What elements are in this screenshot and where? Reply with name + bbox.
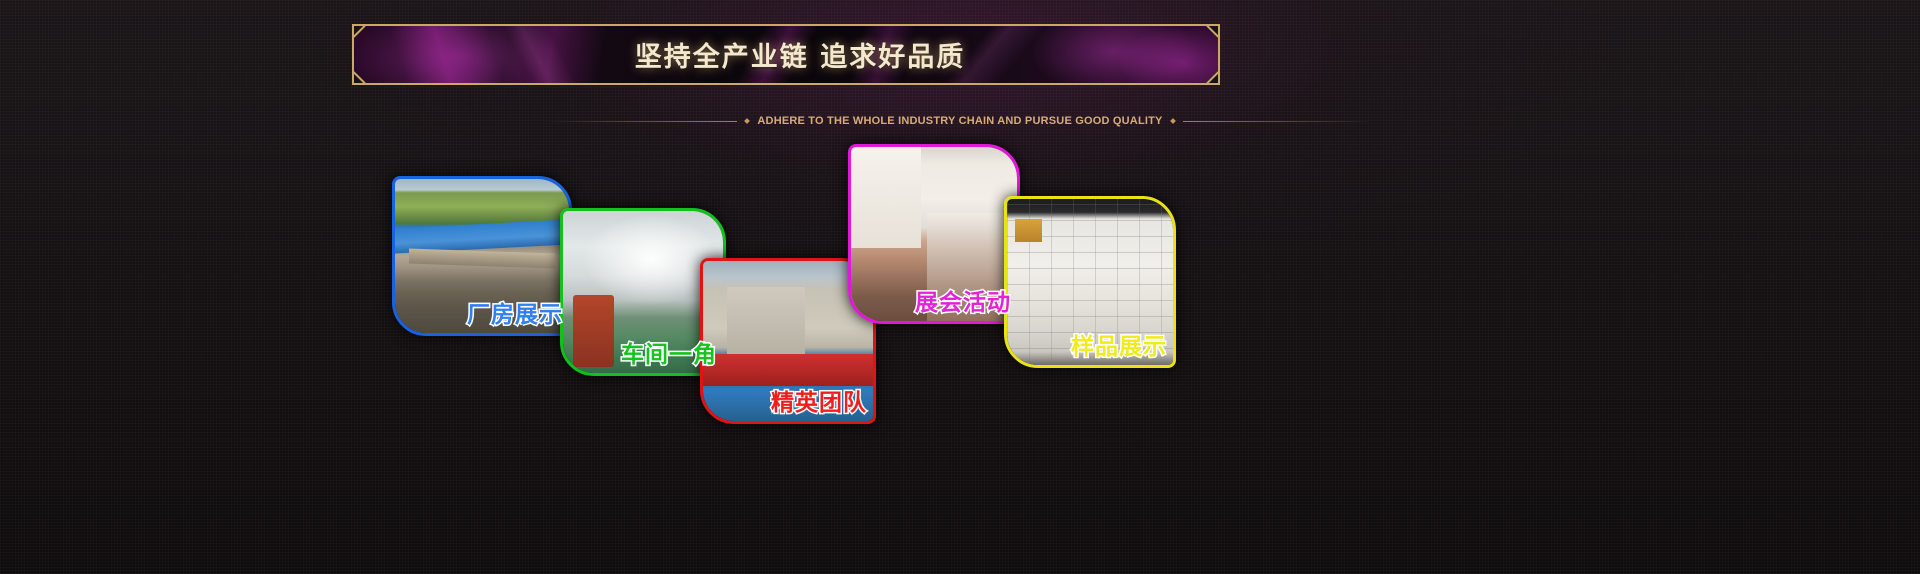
subtitle-rule-left: [545, 121, 737, 122]
page-root: 坚持全产业链 追求好品质 ADHERE TO THE WHOLE INDUSTR…: [0, 0, 1920, 574]
subtitle-text: ADHERE TO THE WHOLE INDUSTRY CHAIN AND P…: [757, 115, 1162, 127]
diamond-icon: [745, 118, 751, 124]
card-label: 展会活动: [915, 283, 1011, 317]
subtitle-rule-right: [1183, 121, 1375, 122]
gallery-card-factory[interactable]: 厂房展示: [392, 176, 572, 336]
card-label: 样品展示: [1071, 327, 1167, 361]
page-title: 坚持全产业链 追求好品质: [354, 26, 1218, 83]
subtitle-row: ADHERE TO THE WHOLE INDUSTRY CHAIN AND P…: [0, 112, 1920, 130]
card-label: 车间一角: [621, 335, 717, 369]
gallery-card-samples[interactable]: 样品展示: [1004, 196, 1176, 368]
gallery-card-exhibition[interactable]: 展会活动: [848, 144, 1020, 324]
card-label: 精英团队: [771, 383, 867, 417]
card-label: 厂房展示: [467, 295, 563, 329]
title-banner: 坚持全产业链 追求好品质: [352, 24, 1220, 85]
diamond-icon: [1170, 118, 1176, 124]
